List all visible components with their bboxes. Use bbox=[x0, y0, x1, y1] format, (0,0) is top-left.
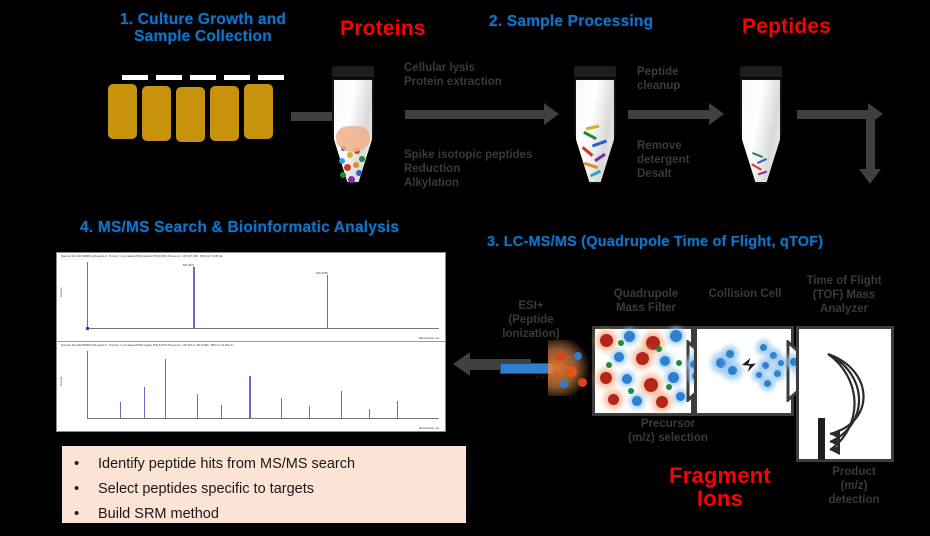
protein-particle bbox=[348, 176, 355, 183]
quadrupole-label-line1: Quadrupole bbox=[600, 288, 692, 302]
protein-particle bbox=[359, 156, 365, 162]
fragment-ion bbox=[778, 360, 784, 366]
prep-note: Spike isotopic peptides Reduction Alkyla… bbox=[404, 148, 532, 190]
precursor-ion bbox=[644, 378, 658, 392]
ion-droplet bbox=[574, 352, 582, 360]
protein-particle bbox=[356, 170, 362, 176]
spectrum-peak bbox=[165, 359, 166, 418]
cleanup-note: Peptide cleanup bbox=[637, 65, 680, 93]
spectrum-peak bbox=[309, 406, 310, 418]
precursor-ion bbox=[636, 352, 649, 365]
desalt-note-line3: Desalt bbox=[637, 167, 689, 181]
contaminant-ion bbox=[656, 346, 662, 352]
precursor-label-line1: Precursor bbox=[598, 418, 738, 432]
tof-label-line2: (TOF) Mass bbox=[788, 289, 900, 303]
arrow-tube3-right bbox=[797, 110, 869, 119]
lysis-note: Cellular lysis Protein extraction bbox=[404, 61, 502, 89]
precursor-ion-entering bbox=[716, 358, 726, 368]
step1-heading: 1. Culture Growth and Sample Collection bbox=[88, 11, 318, 46]
product-label-line2: (m/z) bbox=[806, 480, 902, 494]
esi-label-line1: ESI+ bbox=[495, 300, 567, 314]
y-axis-label: Intensity bbox=[60, 376, 63, 386]
product-detection-label: Product (m/z) detection bbox=[806, 466, 902, 507]
spectrum-peak bbox=[221, 405, 222, 418]
plot-area bbox=[87, 351, 439, 419]
arrow-tube2-to-tube3 bbox=[628, 110, 710, 119]
desalt-note-line2: detergent bbox=[637, 153, 689, 167]
precursor-ion bbox=[676, 392, 685, 401]
spectrum-peak bbox=[120, 402, 121, 418]
precursor-ion bbox=[670, 330, 682, 342]
protein-particle bbox=[340, 172, 346, 178]
tof-flight-paths bbox=[800, 330, 892, 458]
protein-particle bbox=[347, 152, 353, 158]
peptides-label: Peptides bbox=[742, 15, 831, 39]
lysis-note-line1: Cellular lysis bbox=[404, 61, 502, 75]
spectrum-peak bbox=[327, 275, 328, 328]
arrow-down-to-instrument bbox=[866, 110, 875, 170]
tof-label-line3: Analyzer bbox=[788, 303, 900, 317]
spectrum-peak bbox=[197, 394, 198, 418]
fragment-ion bbox=[756, 372, 762, 378]
contaminant-ion bbox=[666, 384, 672, 390]
fragment-ion bbox=[774, 370, 781, 377]
product-label-line1: Product bbox=[806, 466, 902, 480]
desalt-note-line1: Remove bbox=[637, 139, 689, 153]
protein-particle bbox=[339, 158, 345, 164]
list-item: Select peptides specific to targets bbox=[62, 477, 466, 502]
clean-peptide-tube bbox=[736, 64, 786, 186]
tof-label-line1: Time of Flight bbox=[788, 275, 900, 289]
prep-note-line3: Alkylation bbox=[404, 176, 532, 190]
y-axis-label: Intensity bbox=[60, 287, 63, 297]
culture-flask bbox=[208, 84, 241, 143]
fragment-ion bbox=[770, 352, 777, 359]
precursor-ion bbox=[622, 374, 632, 384]
tof-label: Time of Flight (TOF) Mass Analyzer bbox=[788, 275, 900, 316]
precursor-ion bbox=[600, 334, 613, 347]
step1-heading-line2: Sample Collection bbox=[88, 28, 318, 45]
quadrupole-label-line2: Mass Filter bbox=[600, 302, 692, 316]
spectrum-peak-label: 836.3386 bbox=[316, 271, 328, 275]
precursor-ion bbox=[614, 352, 624, 362]
contaminant-ion bbox=[628, 388, 634, 394]
flask-cap bbox=[256, 73, 286, 82]
workflow-figure: 1. Culture Growth and Sample Collection … bbox=[0, 0, 930, 536]
precursor-ion-entering bbox=[728, 366, 737, 375]
fragment-ion bbox=[764, 380, 771, 387]
culture-flask bbox=[242, 82, 275, 141]
step2-heading: 2. Sample Processing bbox=[489, 13, 653, 30]
precursor-ion bbox=[600, 372, 612, 384]
analysis-bullet-list: Identify peptide hits from MS/MS search … bbox=[62, 452, 466, 527]
step4-heading: 4. MS/MS Search & Bioinformatic Analysis bbox=[80, 219, 399, 236]
list-item: Build SRM method bbox=[62, 502, 466, 527]
precursor-ion bbox=[668, 372, 679, 383]
tube-lid bbox=[330, 64, 376, 79]
lysis-note-line2: Protein extraction bbox=[404, 75, 502, 89]
culture-flask bbox=[106, 82, 139, 141]
collision-cell-label: Collision Cell bbox=[700, 288, 790, 302]
precursor-ion bbox=[660, 356, 670, 366]
fragment-ions-line1: Fragment bbox=[650, 464, 790, 487]
ion-droplet bbox=[560, 380, 568, 388]
x-axis-label: Mass/Charge, Da bbox=[419, 427, 439, 430]
prep-note-line2: Reduction bbox=[404, 162, 532, 176]
esi-label-line2: (Peptide bbox=[495, 314, 567, 328]
fragment-ions-line2: Ions bbox=[650, 487, 790, 510]
tube-lid bbox=[738, 64, 784, 79]
x-axis-label: Mass/Charge, Da bbox=[419, 337, 439, 340]
spectrum-top-caption: Spectrum from 20170208XX-LsP-sample-3 : … bbox=[61, 255, 223, 258]
tube-lid bbox=[572, 64, 618, 79]
contaminant-ion bbox=[606, 362, 612, 368]
tof-detector bbox=[818, 418, 825, 460]
precursor-ion bbox=[624, 331, 635, 342]
esi-label: ESI+ (Peptide Ionization) bbox=[495, 300, 567, 341]
prep-note-line1: Spike isotopic peptides bbox=[404, 148, 532, 162]
flask-cap bbox=[154, 73, 184, 82]
contaminant-ion bbox=[676, 360, 682, 366]
step3-heading: 3. LC-MS/MS (Quadrupole Time of Flight, … bbox=[487, 234, 823, 250]
spectrum-peak bbox=[144, 387, 145, 418]
proteins-label: Proteins bbox=[340, 17, 426, 41]
product-label-line3: detection bbox=[806, 494, 902, 508]
protein-suspension bbox=[336, 126, 370, 152]
spectrum-peak bbox=[281, 398, 282, 418]
contaminant-ion bbox=[618, 340, 624, 346]
fragment-ions-label: Fragment Ions bbox=[650, 464, 790, 510]
list-item: Identify peptide hits from MS/MS search bbox=[62, 452, 466, 477]
spectrum-peak bbox=[193, 267, 194, 328]
quadrupole-label: Quadrupole Mass Filter bbox=[600, 288, 692, 316]
spectrum-peak bbox=[369, 409, 370, 418]
flask-cap bbox=[188, 73, 218, 82]
spectra-panel: Spectrum from 20170208XX-LsP-sample-3 : … bbox=[56, 252, 446, 432]
fragment-ion bbox=[760, 344, 767, 351]
spectrum-peak bbox=[341, 391, 342, 418]
flask-cap bbox=[120, 73, 150, 82]
protein-sample-tube bbox=[328, 64, 378, 186]
baseline-marker bbox=[86, 327, 89, 330]
spectrum-bottom: Spectrum from 20170208XX-LsP-sample-3 : … bbox=[57, 342, 445, 431]
flask-cap bbox=[222, 73, 252, 82]
spectrum-peak-label: 581.6871 bbox=[183, 263, 195, 267]
ion-droplet bbox=[566, 366, 577, 377]
step1-heading-line1: 1. Culture Growth and bbox=[88, 11, 318, 28]
ion-droplet bbox=[578, 378, 587, 387]
plot-area: 581.6871 836.3386 bbox=[87, 262, 439, 329]
precursor-ion-entering bbox=[726, 350, 734, 358]
digest-tube bbox=[570, 64, 620, 186]
spectrum-bottom-caption: Spectrum from 20170208XX-LsP-sample-3 : … bbox=[61, 344, 233, 347]
precursor-label-line2: (m/z) selection bbox=[598, 432, 738, 446]
arrow-tube1-to-tube2 bbox=[405, 110, 545, 119]
protein-particle bbox=[344, 164, 351, 171]
spectrum-peak bbox=[397, 401, 398, 418]
protein-particle bbox=[353, 162, 359, 168]
desalt-note: Remove detergent Desalt bbox=[637, 139, 689, 181]
ion-droplet bbox=[556, 352, 565, 361]
fragment-ion bbox=[762, 362, 769, 369]
spectrum-peak bbox=[249, 376, 250, 418]
spectrum-top: Spectrum from 20170208XX-LsP-sample-3 : … bbox=[57, 253, 445, 342]
culture-flask bbox=[174, 85, 207, 144]
culture-flask bbox=[140, 84, 173, 143]
culture-flasks bbox=[106, 73, 286, 151]
cleanup-note-line2: cleanup bbox=[637, 79, 680, 93]
cleanup-note-line1: Peptide bbox=[637, 65, 680, 79]
